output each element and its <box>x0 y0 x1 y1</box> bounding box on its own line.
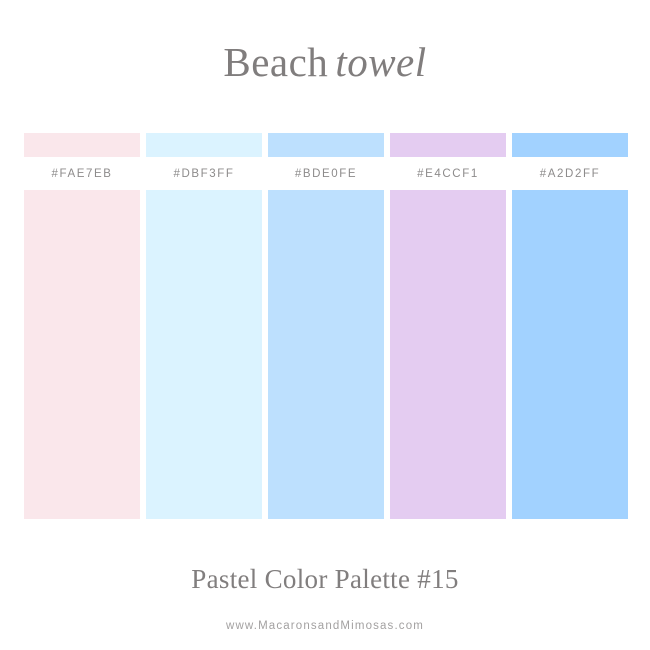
swatch-hex-label-4: #E4CCF1 <box>390 157 506 190</box>
color-palette: #FAE7EB #DBF3FF #BDE0FE #E4CCF1 #A2D2FF <box>24 133 628 519</box>
swatch-column-5: #A2D2FF <box>512 133 628 519</box>
swatch-chip-top-4 <box>390 133 506 157</box>
page-title-italic: towel <box>335 39 426 85</box>
swatch-hex-label-3: #BDE0FE <box>268 157 384 190</box>
palette-subtitle: Pastel Color Palette #15 <box>0 562 650 596</box>
swatch-chip-body-3 <box>268 190 384 519</box>
palette-page: Beachtowel #FAE7EB #DBF3FF #BDE0FE #E4CC… <box>0 0 650 650</box>
swatch-chip-body-5 <box>512 190 628 519</box>
swatch-chip-body-1 <box>24 190 140 519</box>
page-title-regular: Beach <box>223 39 328 85</box>
swatch-chip-top-3 <box>268 133 384 157</box>
site-url: www.MacaronsandMimosas.com <box>0 618 650 634</box>
swatch-chip-body-2 <box>146 190 262 519</box>
swatch-column-4: #E4CCF1 <box>390 133 506 519</box>
swatch-hex-label-1: #FAE7EB <box>24 157 140 190</box>
swatch-hex-label-2: #DBF3FF <box>146 157 262 190</box>
swatch-column-3: #BDE0FE <box>268 133 384 519</box>
swatch-column-2: #DBF3FF <box>146 133 262 519</box>
swatch-column-1: #FAE7EB <box>24 133 140 519</box>
page-title: Beachtowel <box>0 36 650 88</box>
swatch-chip-top-5 <box>512 133 628 157</box>
swatch-chip-top-1 <box>24 133 140 157</box>
swatch-chip-body-4 <box>390 190 506 519</box>
swatch-hex-label-5: #A2D2FF <box>512 157 628 190</box>
swatch-chip-top-2 <box>146 133 262 157</box>
